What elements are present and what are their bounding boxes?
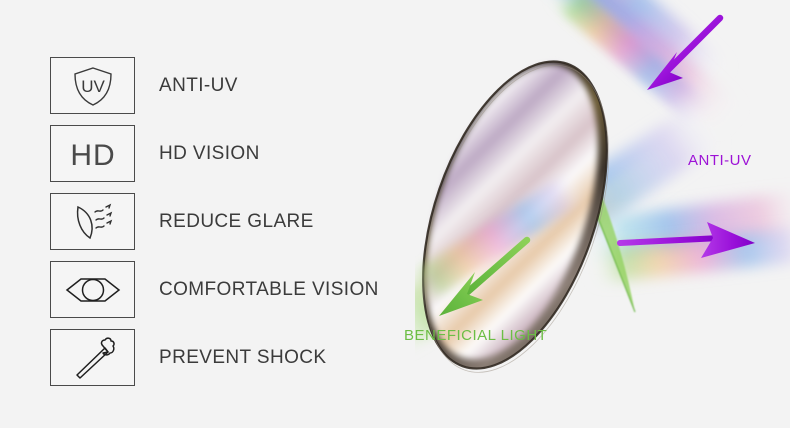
feature-label-reduce-glare: REDUCE GLARE — [159, 211, 314, 233]
feature-item-reduce-glare[interactable]: REDUCE GLARE — [50, 193, 430, 250]
svg-text:UV: UV — [81, 77, 105, 96]
feature-label-comfortable-vision: COMFORTABLE VISION — [159, 279, 379, 301]
feature-item-prevent-shock[interactable]: PREVENT SHOCK — [50, 329, 430, 386]
feature-item-comfortable-vision[interactable]: COMFORTABLE VISION — [50, 261, 430, 318]
feature-label-prevent-shock: PREVENT SHOCK — [159, 347, 326, 369]
product-feature-banner: UV ANTI-UV HD HD VISION — [0, 0, 790, 428]
hammer-icon — [50, 329, 135, 386]
hd-text-icon: HD — [50, 125, 135, 182]
svg-text:HD: HD — [70, 139, 115, 172]
glare-deflect-icon — [50, 193, 135, 250]
eye-icon — [50, 261, 135, 318]
feature-item-hd-vision[interactable]: HD HD VISION — [50, 125, 430, 182]
feature-label-anti-uv: ANTI-UV — [159, 75, 238, 97]
anti-uv-beam-label: ANTI-UV — [688, 152, 752, 169]
tilted-lens-light-diagram: ANTI-UV BENEFICIAL LIGHT — [415, 0, 790, 428]
feature-list: UV ANTI-UV HD HD VISION — [50, 57, 430, 397]
beneficial-light-beam-label: BENEFICIAL LIGHT — [404, 327, 547, 344]
lens-light-diagram-svg — [415, 0, 790, 428]
uv-shield-icon: UV — [50, 57, 135, 114]
feature-label-hd-vision: HD VISION — [159, 143, 260, 165]
feature-item-anti-uv[interactable]: UV ANTI-UV — [50, 57, 430, 114]
